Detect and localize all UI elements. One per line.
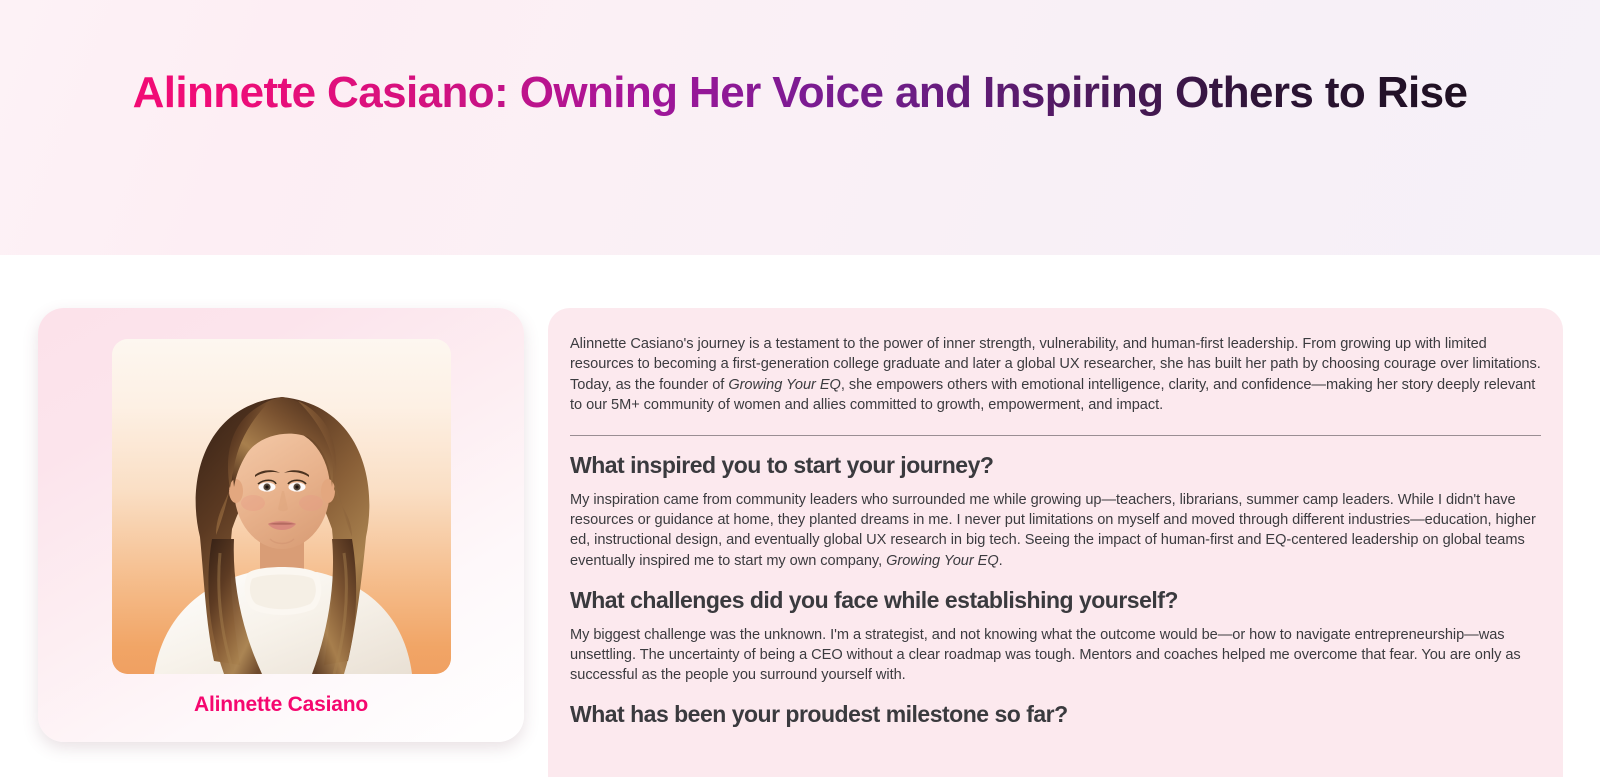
story-intro-work-title: Growing Your EQ — [728, 377, 841, 393]
portrait-image — [112, 339, 451, 674]
profile-card: Alinnette Casiano — [38, 308, 524, 742]
article-page: Alinnette Casiano: Owning Her Voice and … — [0, 0, 1600, 777]
qa-answer-0-part2: . — [999, 553, 1003, 569]
profile-name: Alinnette Casiano — [38, 693, 524, 717]
qa-answer-0: My inspiration came from community leade… — [570, 490, 1541, 571]
qa-question-0: What inspired you to start your journey? — [570, 452, 1541, 480]
page-header: Alinnette Casiano: Owning Her Voice and … — [0, 0, 1600, 255]
qa-question-1: What challenges did you face while estab… — [570, 587, 1541, 615]
section-divider — [570, 435, 1541, 436]
qa-answer-0-part1: My inspiration came from community leade… — [570, 492, 1536, 569]
page-title: Alinnette Casiano: Owning Her Voice and … — [0, 68, 1600, 119]
qa-answer-1-part1: My biggest challenge was the unknown. I'… — [570, 627, 1521, 684]
qa-question-2: What has been your proudest milestone so… — [570, 701, 1541, 729]
portrait-frame — [112, 339, 451, 674]
content-area: Alinnette Casiano Alinnette Casiano's jo… — [0, 255, 1600, 777]
story-intro: Alinnette Casiano's journey is a testame… — [570, 334, 1541, 415]
qa-answer-1: My biggest challenge was the unknown. I'… — [570, 625, 1541, 686]
story-panel: Alinnette Casiano's journey is a testame… — [548, 308, 1563, 777]
qa-answer-0-work-title: Growing Your EQ — [886, 553, 999, 569]
